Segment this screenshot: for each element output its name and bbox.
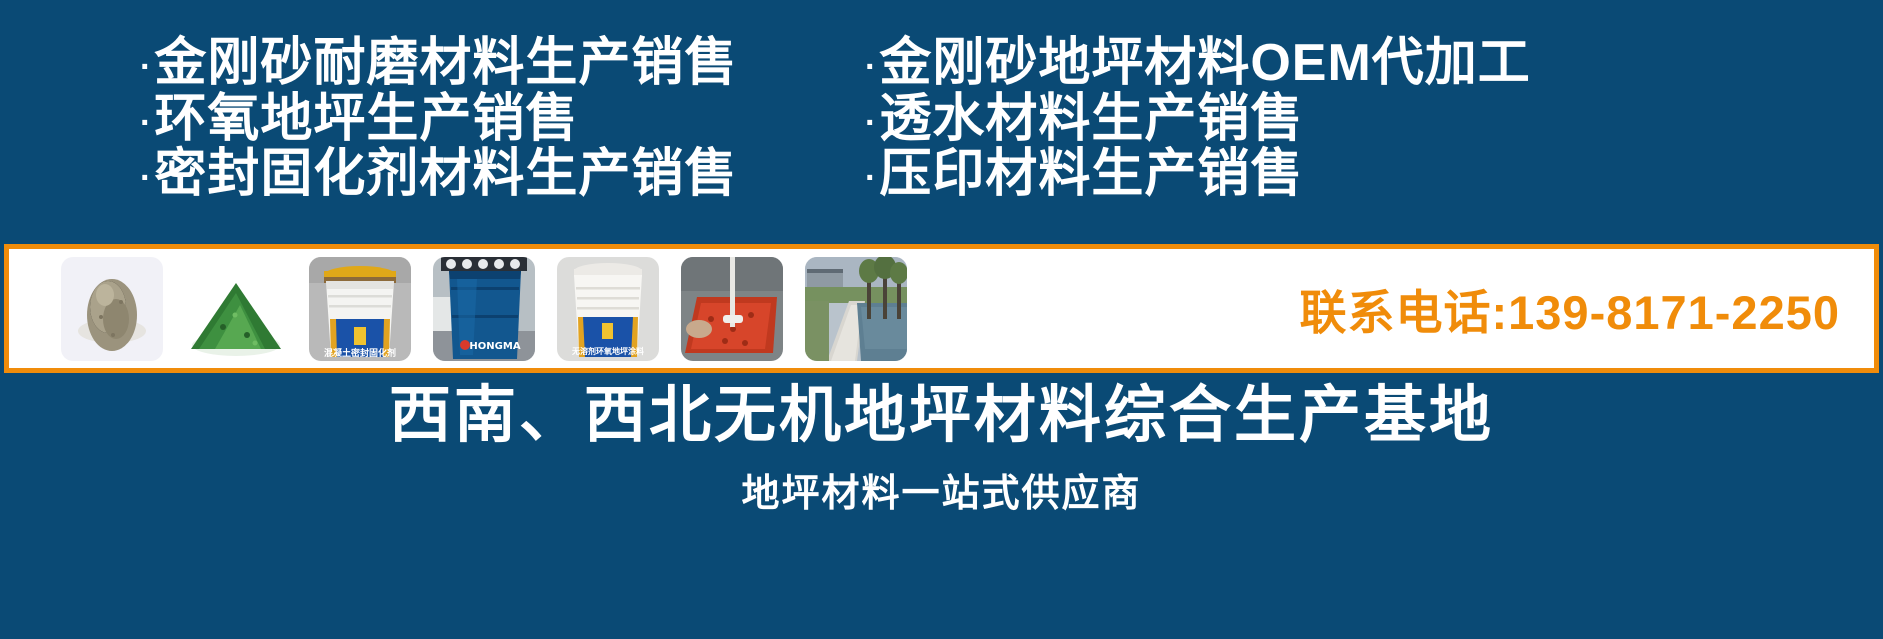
permeable-pavement-road-photo	[805, 257, 907, 361]
bullet-icon: ·	[865, 50, 877, 84]
bullet-icon: ·	[865, 106, 877, 140]
svg-text:混凝土密封固化剂: 混凝土密封固化剂	[324, 347, 396, 359]
bullet-icon: ·	[865, 161, 877, 195]
product-thumbnail-row: 混凝土密封固化剂	[61, 257, 907, 361]
feature-list-left: · 金刚砂耐磨材料生产销售 · 环氧地坪生产销售 · 密封固化剂材料生产销售	[140, 36, 860, 203]
feature-item-label: 密封固化剂材料生产销售	[154, 147, 737, 203]
feature-item: · 透水材料生产销售	[865, 92, 1765, 148]
headline-subtitle: 地坪材料一站式供应商	[0, 462, 1883, 517]
green-wear-resistant-powder-photo	[185, 257, 287, 361]
feature-item-label: 透水材料生产销售	[879, 92, 1303, 148]
promotional-banner: · 金刚砂耐磨材料生产销售 · 环氧地坪生产销售 · 密封固化剂材料生产销售 ·…	[0, 0, 1883, 639]
feature-item-label: 压印材料生产销售	[879, 147, 1303, 203]
feature-item: · 金刚砂耐磨材料生产销售	[140, 36, 860, 92]
bullet-icon: ·	[140, 106, 152, 140]
bullet-icon: ·	[140, 161, 152, 195]
concrete-sealer-bucket-photo: 混凝土密封固化剂	[309, 257, 411, 361]
svg-text:无溶剂环氧地坪涂料: 无溶剂环氧地坪涂料	[571, 346, 644, 356]
feature-item: · 环氧地坪生产销售	[140, 92, 860, 148]
contact-phone[interactable]: 联系电话:139-8171-2250	[1300, 274, 1841, 343]
svg-text:HONGMA: HONGMA	[469, 341, 520, 352]
headline-title: 西南、西北无机地坪材料综合生产基地	[0, 380, 1883, 451]
hongma-blue-drum-photo: HONGMA	[433, 257, 535, 361]
feature-item-label: 金刚砂耐磨材料生产销售	[154, 36, 737, 92]
feature-list-right: · 金刚砂地坪材料OEM代加工 · 透水材料生产销售 · 压印材料生产销售	[865, 36, 1765, 203]
product-showcase-strip: 混凝土密封固化剂	[4, 244, 1879, 373]
feature-item-label: 环氧地坪生产销售	[154, 92, 578, 148]
feature-lists: · 金刚砂耐磨材料生产销售 · 环氧地坪生产销售 · 密封固化剂材料生产销售 ·…	[0, 36, 1883, 236]
feature-item-label: 金刚砂地坪材料OEM代加工	[879, 36, 1530, 92]
feature-item: · 压印材料生产销售	[865, 147, 1765, 203]
feature-item: · 金刚砂地坪材料OEM代加工	[865, 36, 1765, 92]
feature-item: · 密封固化剂材料生产销售	[140, 147, 860, 203]
red-permeable-paving-photo	[681, 257, 783, 361]
grey-wear-resistant-powder-photo	[61, 257, 163, 361]
epoxy-floor-coating-bucket-photo: 无溶剂环氧地坪涂料	[557, 257, 659, 361]
bullet-icon: ·	[140, 50, 152, 84]
